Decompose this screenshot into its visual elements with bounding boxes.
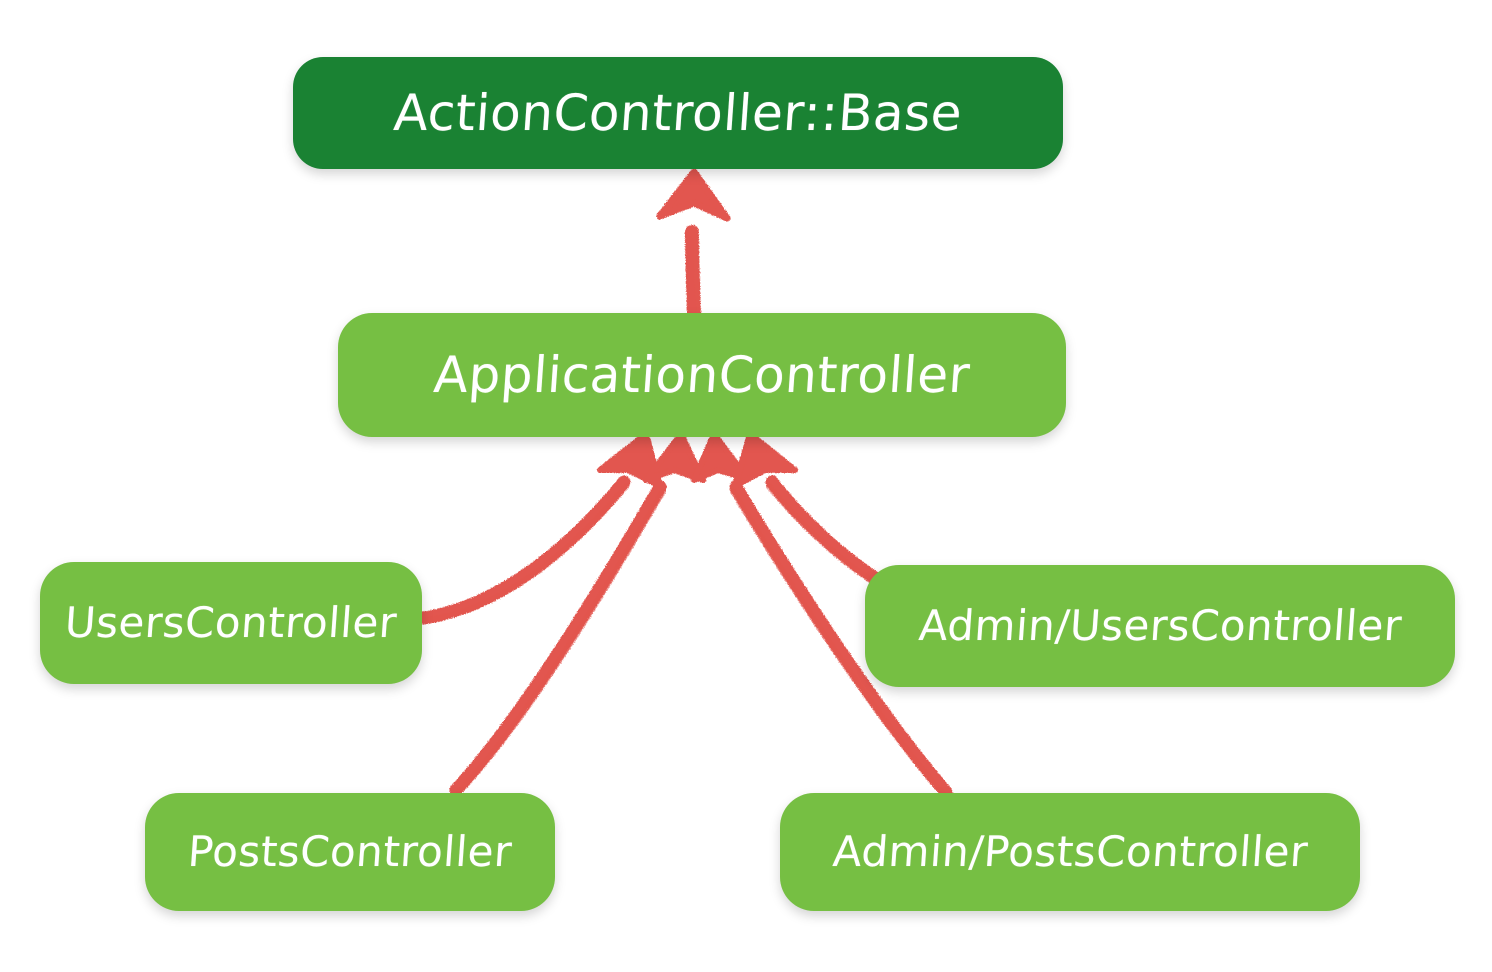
edge-users-to-application	[424, 482, 626, 620]
node-label: ActionController::Base	[392, 88, 964, 138]
node-posts-controller[interactable]: PostsController	[145, 793, 555, 911]
edge-admin-users-to-application	[769, 482, 884, 587]
node-action-controller-base[interactable]: ActionController::Base	[293, 57, 1063, 169]
arrowhead-to-users	[600, 434, 660, 486]
edge-posts-to-application	[456, 487, 663, 792]
node-admin-users-controller[interactable]: Admin/UsersController	[865, 565, 1455, 687]
diagram-canvas: ActionController::Base ApplicationContro…	[0, 0, 1492, 972]
node-label: ApplicationController	[432, 350, 971, 400]
node-users-controller[interactable]: UsersController	[40, 562, 422, 684]
arrowhead-to-admin-users	[735, 434, 795, 486]
node-application-controller[interactable]: ApplicationController	[338, 313, 1066, 437]
node-admin-posts-controller[interactable]: Admin/PostsController	[780, 793, 1360, 911]
arrowhead-cluster	[600, 434, 795, 486]
node-label: Admin/UsersController	[917, 605, 1403, 647]
node-label: Admin/PostsController	[831, 831, 1309, 873]
arrowhead-to-admin-posts	[694, 434, 748, 480]
edge-application-to-base	[660, 172, 727, 313]
arrowhead-to-posts	[646, 434, 703, 480]
node-label: UsersController	[64, 602, 399, 644]
node-label: PostsController	[187, 831, 514, 873]
